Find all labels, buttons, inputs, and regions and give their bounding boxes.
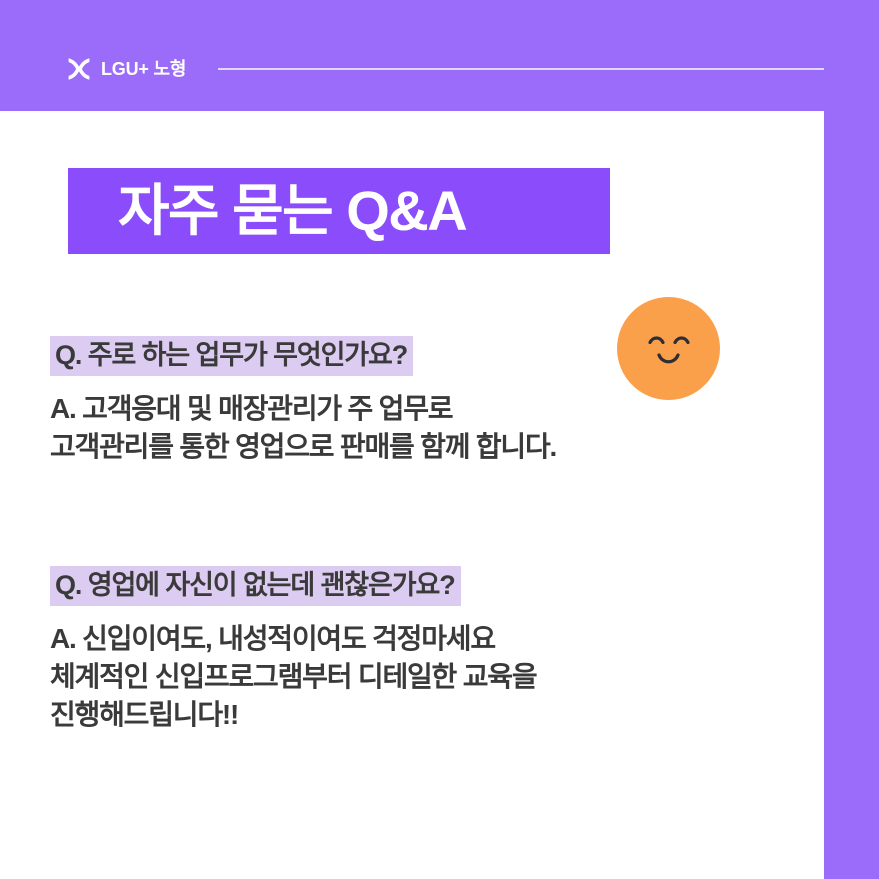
title-banner: 자주 묻는 Q&A <box>68 168 610 254</box>
brand: LGU+ 노형 <box>66 54 186 84</box>
answer-1-line-1: A. 고객응대 및 매장관리가 주 업무로 <box>50 390 556 428</box>
smiling-face-icon <box>617 297 720 400</box>
lgu-x-logo-icon <box>66 56 92 82</box>
answer-2-line-1: A. 신입이여도, 내성적이여도 걱정마세요 <box>50 620 536 658</box>
qa-item-2: Q. 영업에 자신이 없는데 괜찮은가요? A. 신입이여도, 내성적이여도 걱… <box>50 566 536 734</box>
answer-2: A. 신입이여도, 내성적이여도 걱정마세요 체계적인 신입프로그램부터 디테일… <box>50 620 536 734</box>
page-title: 자주 묻는 Q&A <box>118 183 466 239</box>
answer-2-line-2: 체계적인 신입프로그램부터 디테일한 교육을 <box>50 658 536 696</box>
qa-item-1: Q. 주로 하는 업무가 무엇인가요? A. 고객응대 및 매장관리가 주 업무… <box>50 336 556 466</box>
answer-1-line-2: 고객관리를 통한 영업으로 판매를 함께 합니다. <box>50 428 556 466</box>
content-panel: 자주 묻는 Q&A Q. 주로 하는 업무가 무엇인가요? A. 고객응대 및 … <box>0 111 824 879</box>
question-2: Q. 영업에 자신이 없는데 괜찮은가요? <box>50 566 461 606</box>
question-1: Q. 주로 하는 업무가 무엇인가요? <box>50 336 413 376</box>
qa-card: LGU+ 노형 자주 묻는 Q&A Q. 주로 하는 업무가 무엇인가요? A.… <box>0 0 879 879</box>
header-divider <box>218 68 824 70</box>
brand-name: LGU+ 노형 <box>101 60 186 78</box>
page-header: LGU+ 노형 <box>0 0 879 111</box>
answer-2-line-3: 진행해드립니다!! <box>50 696 536 734</box>
answer-1: A. 고객응대 및 매장관리가 주 업무로 고객관리를 통한 영업으로 판매를 … <box>50 390 556 466</box>
